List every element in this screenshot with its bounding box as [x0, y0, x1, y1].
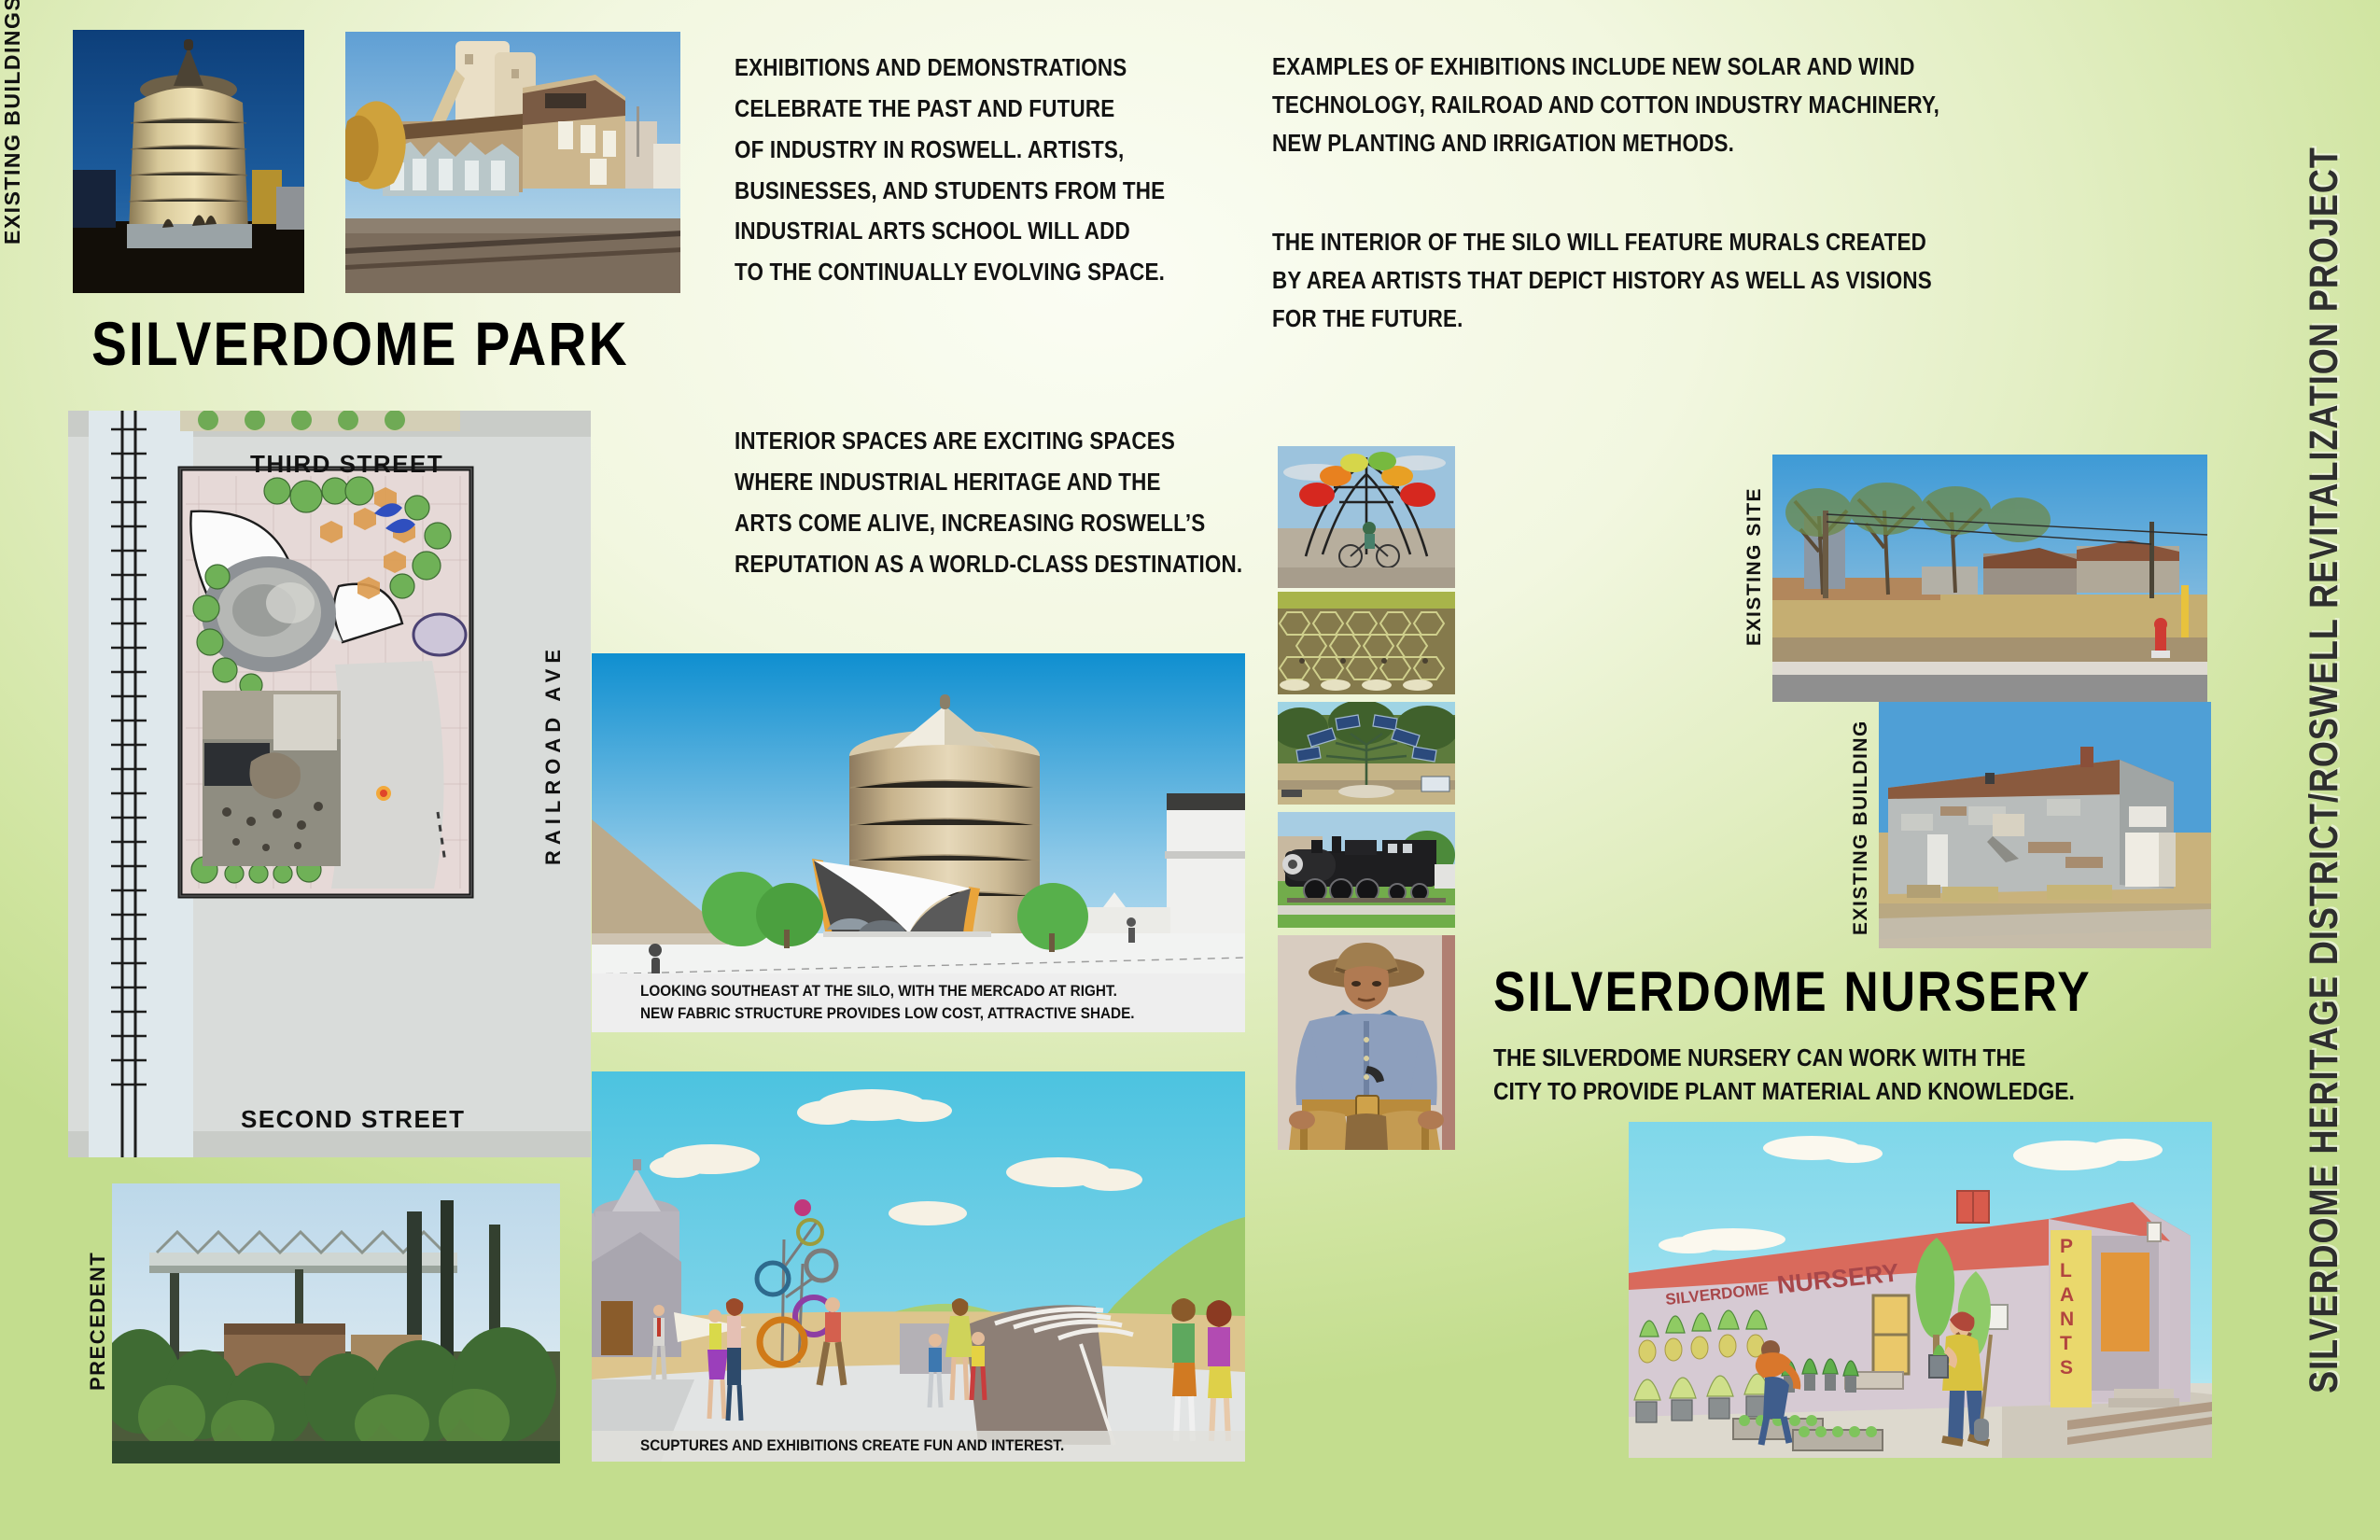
nursery-watercolor-rendering: SILVERDOME NURSERY PLA NTS — [1629, 1122, 2212, 1458]
silo-caption-strip: LOOKING SOUTHEAST AT THE SILO, WITH THE … — [592, 973, 1245, 1032]
existing-site-photo — [1772, 455, 2207, 702]
steam-locomotive-photo — [1278, 812, 1455, 928]
nursery-title: SILVERDOME NURSERY — [1493, 959, 2092, 1024]
solar-tree-photo — [1278, 702, 1455, 805]
svg-text:T: T — [2060, 1333, 2072, 1354]
site-plan-second-street-label: SECOND STREET — [241, 1105, 466, 1134]
street-caption: SCUPTURES AND EXHIBITIONS CREATE FUN AND… — [640, 1435, 1184, 1457]
wind-sculpture-photo — [1278, 446, 1455, 588]
park-title: SILVERDOME PARK — [91, 308, 629, 379]
site-plan-third-street-label: THIRD STREET — [250, 450, 443, 479]
existing-building-label: EXISTING BUILDING — [1850, 711, 1872, 945]
existing-site-label: EXISTING SITE — [1743, 478, 1766, 655]
exhibits-paragraph-1: EXAMPLES OF EXHIBITIONS INCLUDE NEW SOLA… — [1272, 49, 2011, 162]
site-plan-railroad-ave-label: RAILROAD AVE — [541, 644, 566, 865]
svg-text:N: N — [2060, 1309, 2074, 1330]
park-paragraph-2: INTERIOR SPACES ARE EXCITING SPACES WHER… — [735, 422, 1277, 585]
existing-mill-photo — [345, 32, 680, 293]
svg-text:S: S — [2060, 1357, 2073, 1379]
street-watercolor-rendering: SCUPTURES AND EXHIBITIONS CREATE FUN AND… — [592, 1071, 1245, 1462]
project-title-banner: SILVERDOME HERITAGE DISTRICT/ROSWELL REV… — [2268, 0, 2380, 1540]
park-paragraph-1: EXHIBITIONS AND DEMONSTRATIONS CELEBRATE… — [735, 49, 1260, 294]
seedling-trays-photo — [1278, 592, 1455, 694]
existing-silo-photo — [73, 30, 304, 293]
svg-text:P: P — [2060, 1236, 2073, 1257]
silo-caption: LOOKING SOUTHEAST AT THE SILO, WITH THE … — [640, 980, 1184, 1025]
existing-buildings-label: EXISTING BUILDINGS — [0, 0, 25, 245]
street-caption-strip: SCUPTURES AND EXHIBITIONS CREATE FUN AND… — [592, 1431, 1245, 1462]
existing-building-photo — [1879, 702, 2211, 948]
site-plan — [68, 411, 591, 1157]
silo-rendering: LOOKING SOUTHEAST AT THE SILO, WITH THE … — [592, 653, 1245, 1032]
cowboy-mural-photo — [1278, 935, 1455, 1150]
presentation-board: EXISTING BUILDINGS — [0, 0, 2380, 1540]
exhibits-paragraph-2: THE INTERIOR OF THE SILO WILL FEATURE MU… — [1272, 224, 2011, 338]
precedent-label: PRECEDENT — [86, 1223, 110, 1419]
nursery-paragraph: THE SILVERDOME NURSERY CAN WORK WITH THE… — [1493, 1042, 2233, 1109]
svg-text:L: L — [2060, 1260, 2072, 1281]
project-title-text: SILVERDOME HERITAGE DISTRICT/ROSWELL REV… — [2304, 147, 2344, 1393]
project-title-label: SILVERDOME HERITAGE DISTRICT/ROSWELL REV… — [2301, 147, 2347, 1393]
svg-text:A: A — [2060, 1284, 2074, 1306]
precedent-industrial-park-photo — [112, 1183, 560, 1463]
